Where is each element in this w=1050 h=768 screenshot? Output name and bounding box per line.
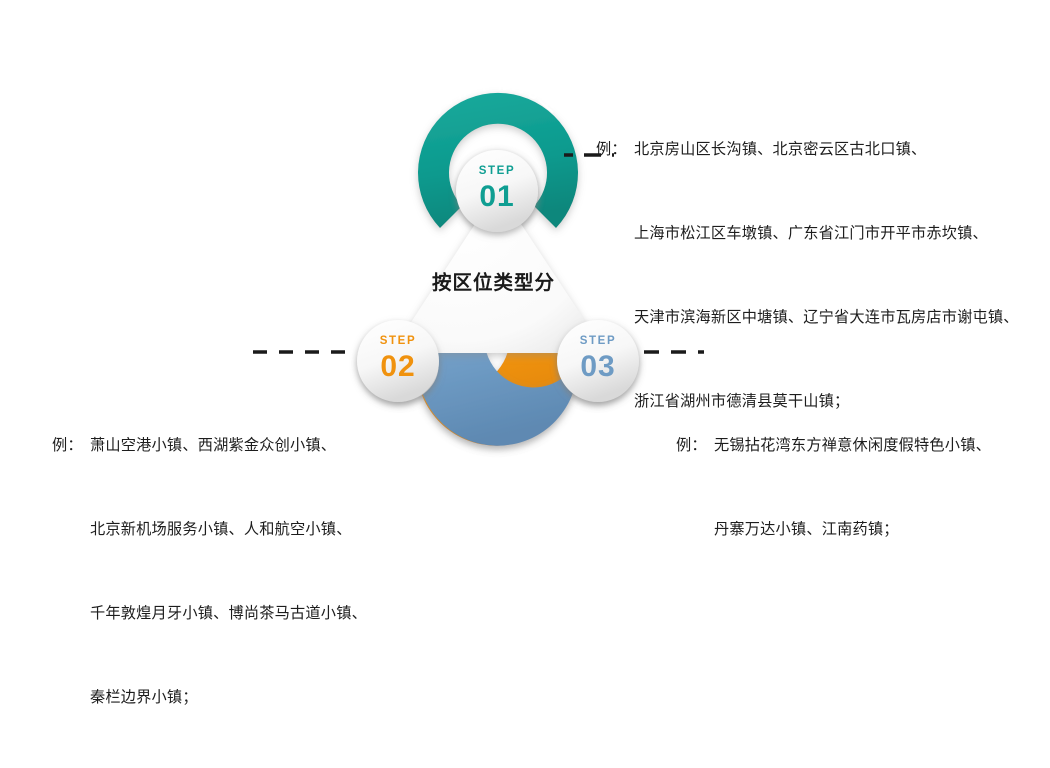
example-line: 秦栏边界小镇； bbox=[52, 684, 367, 712]
step-01-word: STEP bbox=[479, 165, 515, 177]
example-line: 北京新机场服务小镇、人和航空小镇、 bbox=[52, 516, 367, 544]
example-prefix-right: 例： bbox=[676, 432, 714, 460]
step-02-word: STEP bbox=[380, 335, 416, 347]
example-line: 无锡拈花湾东方禅意休闲度假特色小镇、 bbox=[714, 437, 991, 454]
step-circle-02[interactable]: STEP 02 bbox=[357, 320, 439, 402]
step-circle-01[interactable]: STEP 01 bbox=[456, 150, 538, 232]
example-line: 萧山空港小镇、西湖紫金众创小镇、 bbox=[90, 437, 336, 454]
example-text-bottom-right: 例：无锡拈花湾东方禅意休闲度假特色小镇、 丹寨万达小镇、江南药镇； bbox=[676, 376, 991, 600]
example-line: 上海市松江区车墩镇、广东省江门市开平市赤坎镇、 bbox=[596, 220, 1019, 248]
example-prefix-left: 例： bbox=[52, 432, 90, 460]
step-01-number: 01 bbox=[479, 180, 514, 213]
example-prefix-top: 例： bbox=[596, 136, 634, 164]
example-text-bottom-left: 例：萧山空港小镇、西湖紫金众创小镇、 北京新机场服务小镇、人和航空小镇、 千年敦… bbox=[52, 376, 367, 768]
example-line: 丹寨万达小镇、江南药镇； bbox=[676, 516, 991, 544]
step-02-number: 02 bbox=[380, 350, 415, 383]
infographic-canvas: STEP 01 STEP 02 STEP 03 大城市依托型 网络节点型 孤点分… bbox=[0, 0, 1050, 558]
example-line: 天津市滨海新区中塘镇、辽宁省大连市瓦房店市谢屯镇、 bbox=[596, 304, 1019, 332]
center-title: 按区位类型分 bbox=[432, 266, 555, 295]
example-line: 北京房山区长沟镇、北京密云区古北口镇、 bbox=[634, 141, 926, 158]
example-line: 千年敦煌月牙小镇、博尚茶马古道小镇、 bbox=[52, 600, 367, 628]
arc-label-step-02: 网络节点型 bbox=[0, 0, 341, 346]
